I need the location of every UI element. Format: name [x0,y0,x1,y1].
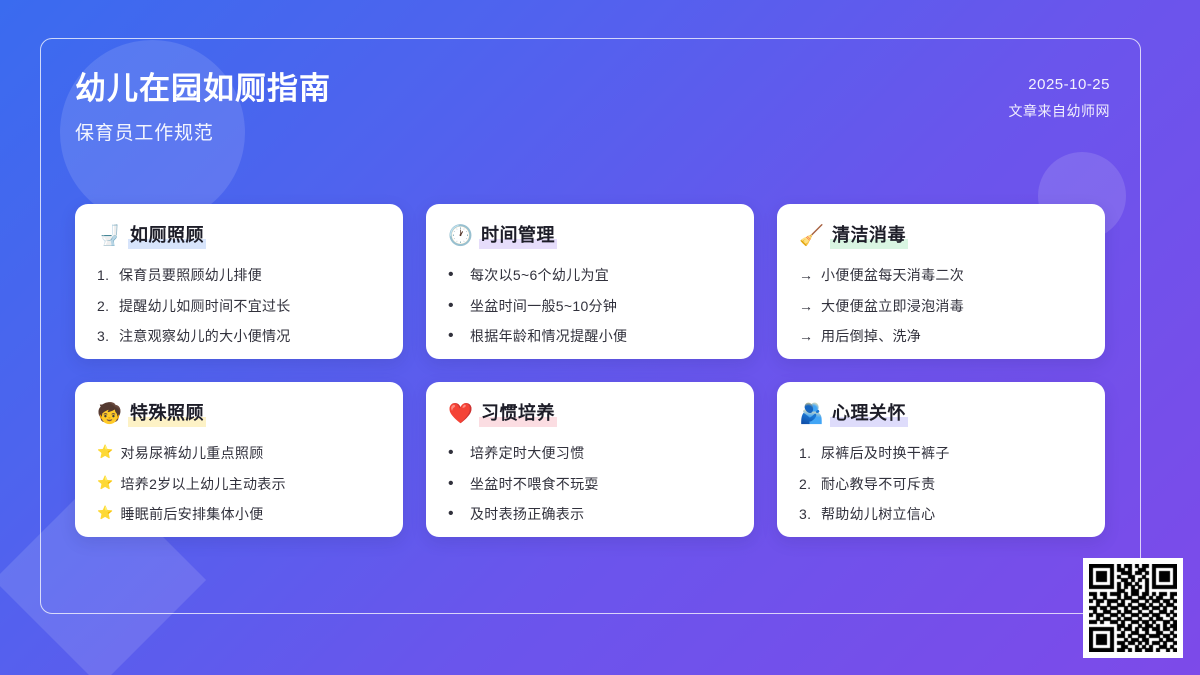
list-item-text: 根据年龄和情况提醒小便 [470,326,627,346]
list-item-marker: 1. [97,265,112,285]
poster-header: 幼儿在园如厕指南 保育员工作规范 2025-10-25 文章来自幼师网 [75,70,1110,145]
list-item-text: 坐盆时不喂食不玩耍 [470,474,599,494]
heart-icon: ❤️ [448,404,470,424]
card-list: 1.保育员要照顾幼儿排便2.提醒幼儿如厕时间不宜过长3.注意观察幼儿的大小便情况 [97,265,381,346]
list-item-marker: → [799,326,814,346]
card-title: 清洁消毒 [830,223,908,249]
card-title: 心理关怀 [830,401,908,427]
source-credit: 文章来自幼师网 [1009,101,1111,121]
list-item-marker: 1. [799,443,814,463]
card-title: 习惯培养 [479,401,557,427]
page-subtitle: 保育员工作规范 [75,118,331,145]
list-item-text: 大便便盆立即浸泡消毒 [821,296,964,316]
list-item-text: 对易尿裤幼儿重点照顾 [121,443,264,463]
list-item: •根据年龄和情况提醒小便 [448,326,732,346]
card-header: 🫂心理关怀 [799,401,1083,427]
card-header: ❤️习惯培养 [448,401,732,427]
list-item: 3.帮助幼儿树立信心 [799,504,1083,524]
list-item-text: 睡眠前后安排集体小便 [121,504,264,524]
child-icon: 🧒 [97,404,119,424]
list-item-marker: • [448,326,463,346]
list-item-marker: • [448,296,463,316]
info-card: ❤️习惯培养•培养定时大便习惯•坐盆时不喂食不玩耍•及时表扬正确表示 [426,382,754,537]
list-item: 2.耐心教导不可斥责 [799,474,1083,494]
list-item: 3.注意观察幼儿的大小便情况 [97,326,381,346]
list-item-text: 培养2岁以上幼儿主动表示 [121,474,286,494]
list-item: •及时表扬正确表示 [448,504,732,524]
title-block: 幼儿在园如厕指南 保育员工作规范 [75,70,331,145]
card-list: 1.尿裤后及时换干裤子2.耐心教导不可斥责3.帮助幼儿树立信心 [799,443,1083,524]
list-item-text: 培养定时大便习惯 [470,443,584,463]
publish-date: 2025-10-25 [1009,76,1111,93]
card-list: ⭐对易尿裤幼儿重点照顾⭐培养2岁以上幼儿主动表示⭐睡眠前后安排集体小便 [97,443,381,524]
list-item: •坐盆时不喂食不玩耍 [448,474,732,494]
list-item-text: 小便便盆每天消毒二次 [821,265,964,285]
list-item-text: 每次以5~6个幼儿为宜 [470,265,609,285]
qr-code[interactable] [1083,558,1183,658]
list-item: ⭐培养2岁以上幼儿主动表示 [97,474,381,494]
list-item-marker: → [799,296,814,316]
card-header: 🕐时间管理 [448,223,732,249]
list-item-marker: 2. [799,474,814,494]
list-item-text: 帮助幼儿树立信心 [821,504,935,524]
card-title: 特殊照顾 [128,401,206,427]
list-item: →用后倒掉、洗净 [799,326,1083,346]
card-list: →小便便盆每天消毒二次→大便便盆立即浸泡消毒→用后倒掉、洗净 [799,265,1083,346]
list-item: •每次以5~6个幼儿为宜 [448,265,732,285]
list-item-text: 坐盆时间一般5~10分钟 [470,296,617,316]
list-item-marker: 3. [799,504,814,524]
list-item-marker: • [448,474,463,494]
info-card: 🧒特殊照顾⭐对易尿裤幼儿重点照顾⭐培养2岁以上幼儿主动表示⭐睡眠前后安排集体小便 [75,382,403,537]
list-item: 1.尿裤后及时换干裤子 [799,443,1083,463]
list-item-text: 用后倒掉、洗净 [821,326,921,346]
broom-icon: 🧹 [799,226,821,246]
list-item-marker: ⭐ [97,443,114,462]
page-title: 幼儿在园如厕指南 [75,70,331,109]
list-item-marker: 2. [97,296,112,316]
toilet-icon: 🚽 [97,226,119,246]
people-hugging-icon: 🫂 [799,404,821,424]
list-item-text: 保育员要照顾幼儿排便 [119,265,262,285]
list-item: →大便便盆立即浸泡消毒 [799,296,1083,316]
clock-icon: 🕐 [448,226,470,246]
list-item: 2.提醒幼儿如厕时间不宜过长 [97,296,381,316]
info-card: 🧹清洁消毒→小便便盆每天消毒二次→大便便盆立即浸泡消毒→用后倒掉、洗净 [777,204,1105,359]
list-item: ⭐对易尿裤幼儿重点照顾 [97,443,381,463]
list-item: •坐盆时间一般5~10分钟 [448,296,732,316]
card-grid: 🚽如厕照顾1.保育员要照顾幼儿排便2.提醒幼儿如厕时间不宜过长3.注意观察幼儿的… [75,204,1109,537]
list-item: •培养定时大便习惯 [448,443,732,463]
meta-block: 2025-10-25 文章来自幼师网 [1009,70,1111,121]
card-list: •培养定时大便习惯•坐盆时不喂食不玩耍•及时表扬正确表示 [448,443,732,524]
list-item-text: 及时表扬正确表示 [470,504,584,524]
qr-code-image [1089,564,1177,652]
list-item-marker: → [799,265,814,285]
list-item-marker: • [448,504,463,524]
list-item-text: 提醒幼儿如厕时间不宜过长 [119,296,291,316]
list-item-text: 注意观察幼儿的大小便情况 [119,326,291,346]
card-list: •每次以5~6个幼儿为宜•坐盆时间一般5~10分钟•根据年龄和情况提醒小便 [448,265,732,346]
list-item: →小便便盆每天消毒二次 [799,265,1083,285]
card-header: 🧹清洁消毒 [799,223,1083,249]
list-item-text: 耐心教导不可斥责 [821,474,935,494]
list-item-text: 尿裤后及时换干裤子 [821,443,950,463]
card-title: 如厕照顾 [128,223,206,249]
list-item-marker: ⭐ [97,474,114,493]
list-item-marker: • [448,265,463,285]
list-item: ⭐睡眠前后安排集体小便 [97,504,381,524]
info-card: 🚽如厕照顾1.保育员要照顾幼儿排便2.提醒幼儿如厕时间不宜过长3.注意观察幼儿的… [75,204,403,359]
list-item-marker: ⭐ [97,504,114,523]
info-card: 🕐时间管理•每次以5~6个幼儿为宜•坐盆时间一般5~10分钟•根据年龄和情况提醒… [426,204,754,359]
info-card: 🫂心理关怀1.尿裤后及时换干裤子2.耐心教导不可斥责3.帮助幼儿树立信心 [777,382,1105,537]
list-item-marker: • [448,443,463,463]
card-header: 🚽如厕照顾 [97,223,381,249]
card-title: 时间管理 [479,223,557,249]
card-header: 🧒特殊照顾 [97,401,381,427]
poster-canvas: 幼儿在园如厕指南 保育员工作规范 2025-10-25 文章来自幼师网 🚽如厕照… [0,0,1200,675]
list-item-marker: 3. [97,326,112,346]
list-item: 1.保育员要照顾幼儿排便 [97,265,381,285]
